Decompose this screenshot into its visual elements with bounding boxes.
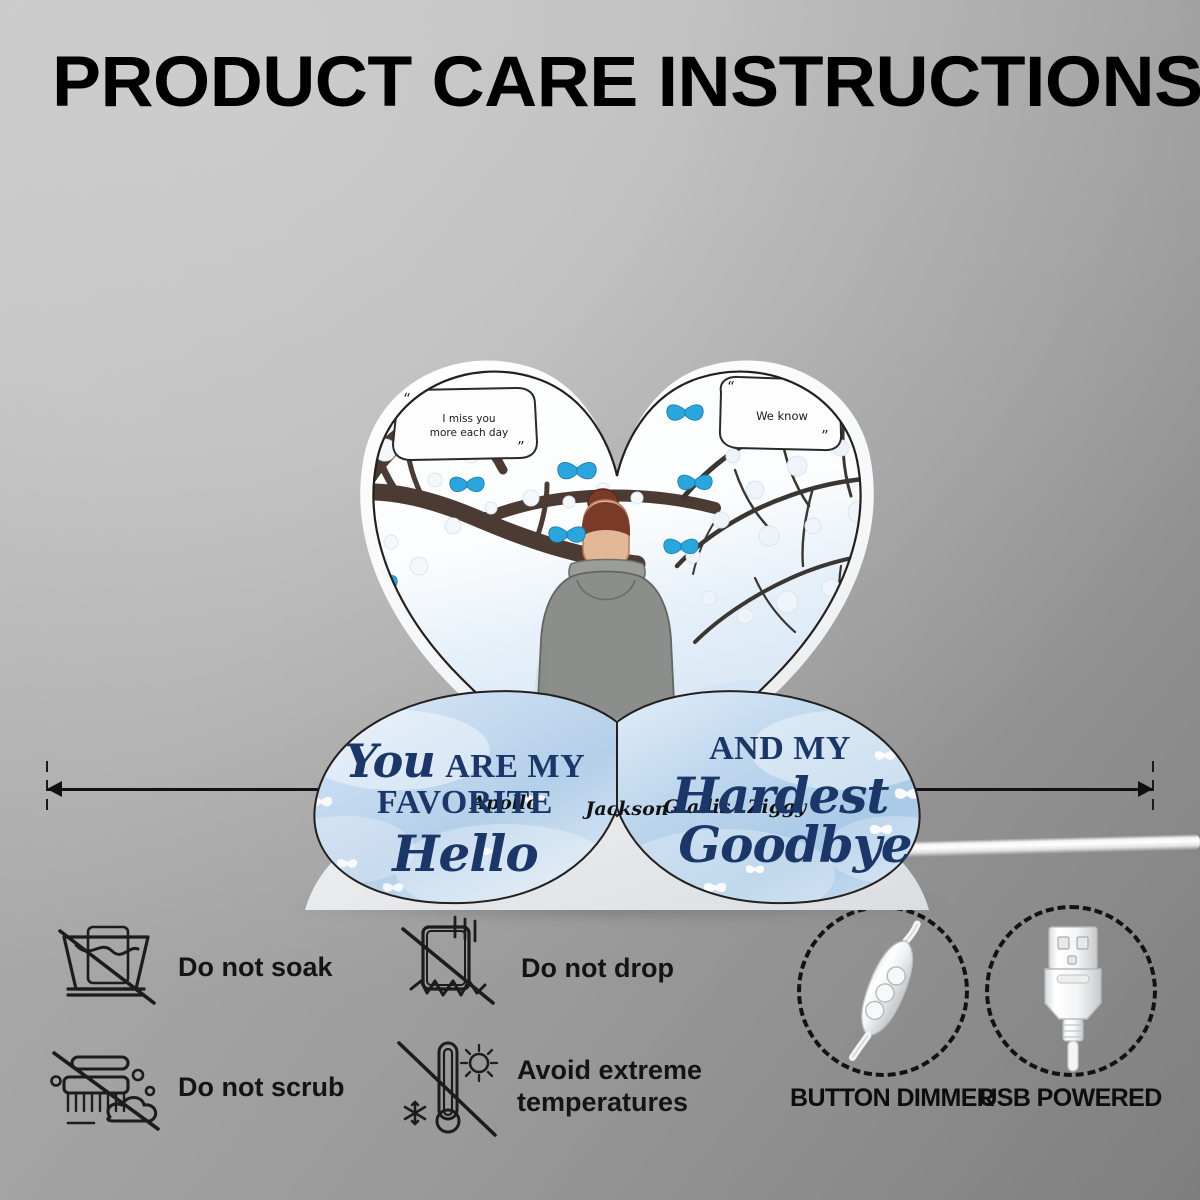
care-label-do-not-soak: Do not soak: [178, 952, 333, 984]
care-label-do-not-drop: Do not drop: [521, 953, 674, 985]
care-item-do-not-drop: Do not drop: [395, 915, 674, 1022]
dashed-circle-usb: [985, 905, 1157, 1077]
care-item-do-not-soak: Do not soak: [50, 915, 333, 1020]
product-preview: I miss you more each day “ ” We know “ ”…: [0, 150, 1200, 800]
feature-button-dimmer: BUTTON DIMMER: [790, 905, 975, 1113]
dimension-arrow-right-icon: [1138, 781, 1153, 797]
page-title: PRODUCT CARE INSTRUCTIONS: [52, 47, 1200, 118]
feature-usb-powered: USB POWERED: [978, 905, 1163, 1113]
inline-dimmer-switch-icon: [803, 911, 967, 1075]
no-extreme-temperature-icon: [395, 1029, 505, 1144]
dimension-arrow-left-icon: [47, 781, 62, 797]
no-scrub-icon: [50, 1033, 168, 1142]
care-label-do-not-scrub: Do not scrub: [178, 1072, 345, 1104]
no-soak-icon: [50, 915, 162, 1020]
features-group: BUTTON DIMMER: [780, 905, 1180, 1160]
care-instructions-group: Do not soak Do not scrub: [40, 905, 760, 1155]
no-drop-icon: [395, 915, 503, 1022]
usb-plug-icon: [991, 911, 1155, 1075]
dashed-circle-dimmer: [797, 905, 969, 1077]
feature-label-usb-powered: USB POWERED: [978, 1084, 1163, 1113]
feature-label-button-dimmer: BUTTON DIMMER: [790, 1084, 975, 1113]
care-item-do-not-scrub: Do not scrub: [50, 1033, 345, 1142]
acrylic-plaque: I miss you more each day “ ” We know “ ”…: [285, 330, 950, 910]
care-label-avoid-extreme-temperatures: Avoid extreme temperatures: [517, 1055, 702, 1119]
care-item-avoid-extreme-temperatures: Avoid extreme temperatures: [395, 1029, 702, 1144]
